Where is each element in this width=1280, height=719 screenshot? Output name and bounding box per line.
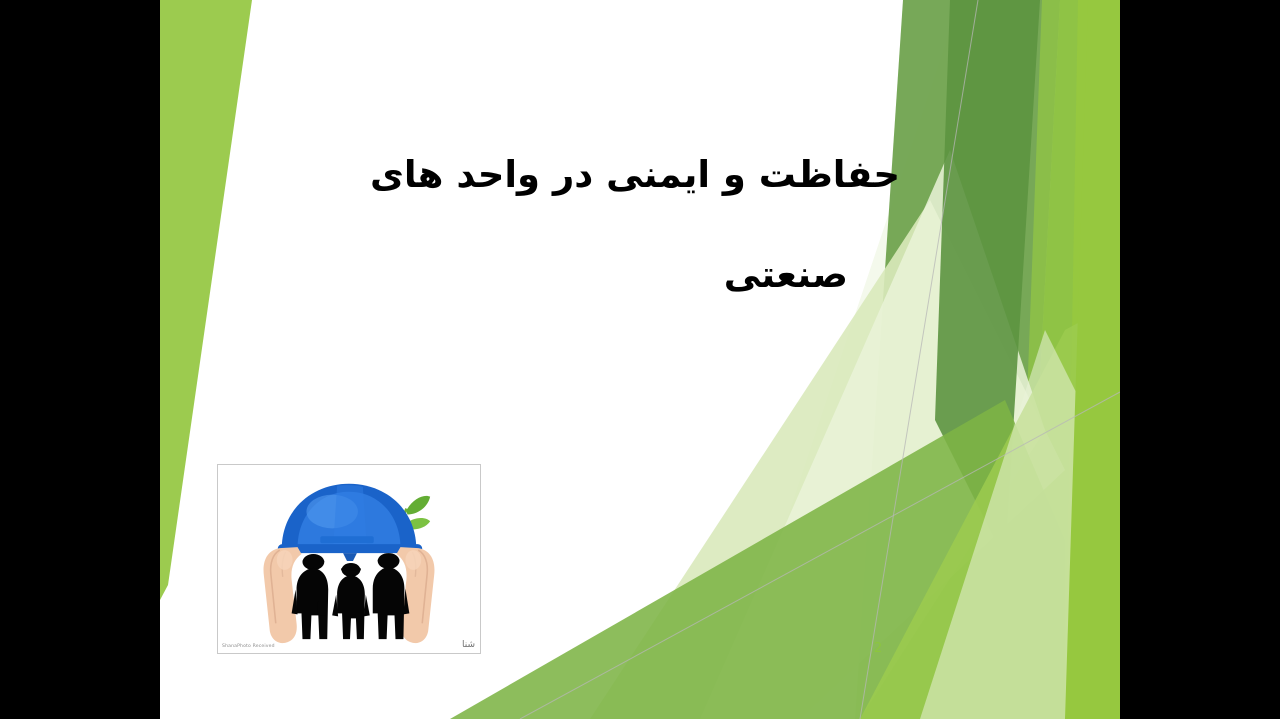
slide-title-line-1: حفاظت و ایمنی در واحد های xyxy=(280,125,900,225)
photo-watermark-left-text: ShanaPhoto Received xyxy=(222,644,275,649)
deco-right-pale-wedge xyxy=(720,0,1120,719)
deco-right-bright-column xyxy=(1022,0,1120,719)
deco-right-mid-column xyxy=(1015,0,1078,719)
photo-watermark-right-text: شنا xyxy=(462,640,475,650)
slide-title-line-2: صنعتی xyxy=(280,225,900,325)
deco-hairline-diagonal xyxy=(520,392,1120,719)
picture-inner: ShanaPhoto Received شنا xyxy=(218,465,480,653)
deco-lower-medium-wedge xyxy=(450,400,1065,719)
deco-right-dark-column xyxy=(855,0,1060,719)
deco-deep-green-wedge xyxy=(935,0,1040,560)
deco-soft-light-wedge xyxy=(920,330,1095,719)
letterbox-bar-left xyxy=(0,0,160,719)
presentation-slide: حفاظت و ایمنی در واحد های صنعتی xyxy=(160,0,1120,719)
deco-hairline-vertical xyxy=(860,0,978,719)
deco-far-right-strip xyxy=(1065,0,1120,719)
helmet-illustration xyxy=(218,465,480,653)
slide-title: حفاظت و ایمنی در واحد های صنعتی xyxy=(280,125,900,325)
letterbox-bar-right xyxy=(1120,0,1280,719)
screenshot-viewport: حفاظت و ایمنی در واحد های صنعتی xyxy=(0,0,1280,719)
safety-helmet-picture: ShanaPhoto Received شنا xyxy=(217,464,481,654)
slide-page-number: 2 xyxy=(863,641,893,656)
deco-lower-bright-wedge xyxy=(860,300,1120,719)
